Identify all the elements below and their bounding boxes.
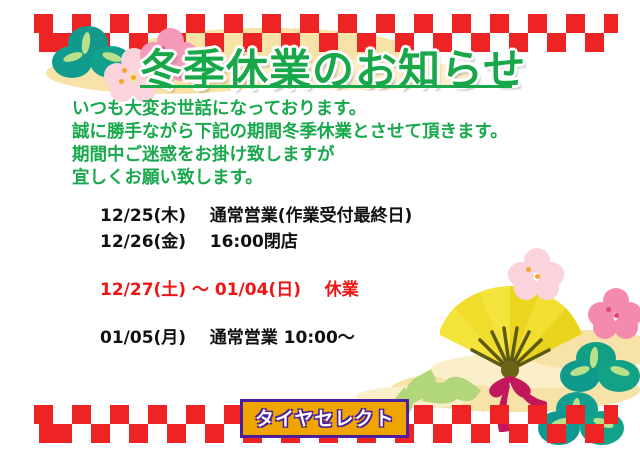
pine-motif: [52, 26, 136, 82]
schedule-note: 16:00閉店: [210, 232, 298, 252]
intro-line: いつも大変お世話になっております。: [72, 98, 508, 121]
schedule-list: 12/25(木) 通常営業(作業受付最終日) 12/26(金) 16:00閉店 …: [100, 203, 412, 351]
plum-blossom: [588, 288, 640, 340]
schedule-note: 通常営業(作業受付最終日): [210, 206, 413, 226]
folding-fan: [440, 252, 640, 432]
intro-line: 期間中ご迷惑をお掛け致しますが: [72, 144, 508, 167]
bamboo-leaf: [441, 370, 481, 408]
schedule-note: 通常営業 10:00～: [210, 328, 355, 348]
kasumi-cloud: [430, 352, 640, 388]
schedule-row: 12/25(木) 通常営業(作業受付最終日): [100, 203, 412, 229]
schedule-date: 01/05(月): [100, 328, 186, 348]
pine-motif: [560, 342, 640, 396]
holiday-notice-poster: 冬季休業のお知らせ いつも大変お世話になっております。 誠に勝手ながら下記の期間…: [0, 0, 640, 453]
schedule-date: 12/26(金): [100, 232, 186, 252]
intro-line: 誠に勝手ながら下記の期間冬季休業とさせて頂きます。: [72, 121, 508, 144]
title-underline: [140, 85, 512, 88]
bamboo-leaf: [423, 380, 462, 407]
kasumi-cloud: [520, 330, 640, 370]
schedule-note: 休業: [325, 280, 359, 300]
pine-motif: [538, 392, 626, 448]
schedule-row: 12/26(金) 16:00閉店: [100, 229, 412, 255]
intro-line: 宜しくお願い致します。: [72, 167, 508, 190]
plum-blossom: [508, 248, 564, 302]
shop-name-banner: タイヤセレクト: [240, 399, 409, 438]
schedule-row-holiday: 12/27(土) ～ 01/04(日) 休業: [100, 277, 412, 303]
intro-paragraph: いつも大変お世話になっております。 誠に勝手ながら下記の期間冬季休業とさせて頂き…: [72, 98, 508, 190]
schedule-row: 01/05(月) 通常営業 10:00～: [100, 325, 412, 351]
kasumi-cloud: [390, 368, 640, 412]
schedule-date: 12/25(木): [100, 206, 186, 226]
schedule-date: 12/27(土) ～ 01/04(日): [100, 280, 301, 300]
